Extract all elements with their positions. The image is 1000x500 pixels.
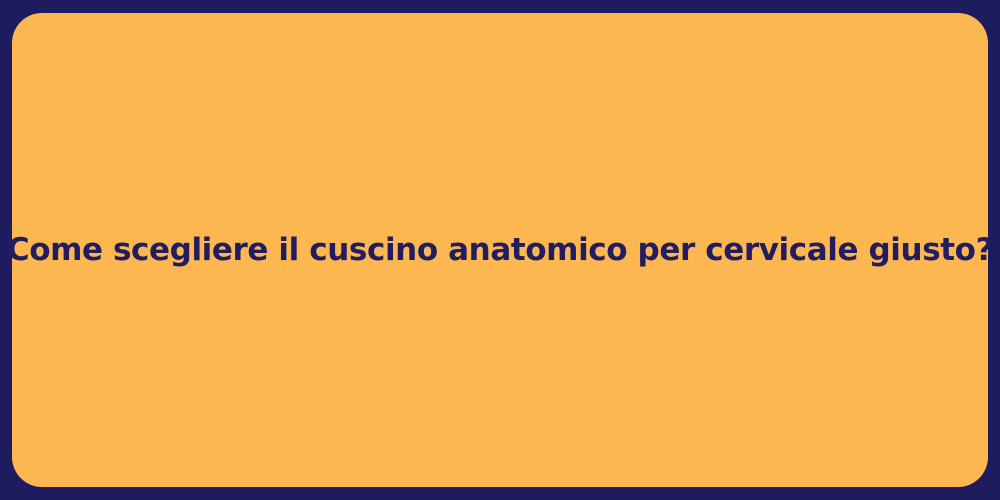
- banner-card: Come scegliere il cuscino anatomico per …: [12, 13, 988, 487]
- banner-frame: Come scegliere il cuscino anatomico per …: [0, 0, 1000, 500]
- banner-headline: Come scegliere il cuscino anatomico per …: [7, 231, 993, 270]
